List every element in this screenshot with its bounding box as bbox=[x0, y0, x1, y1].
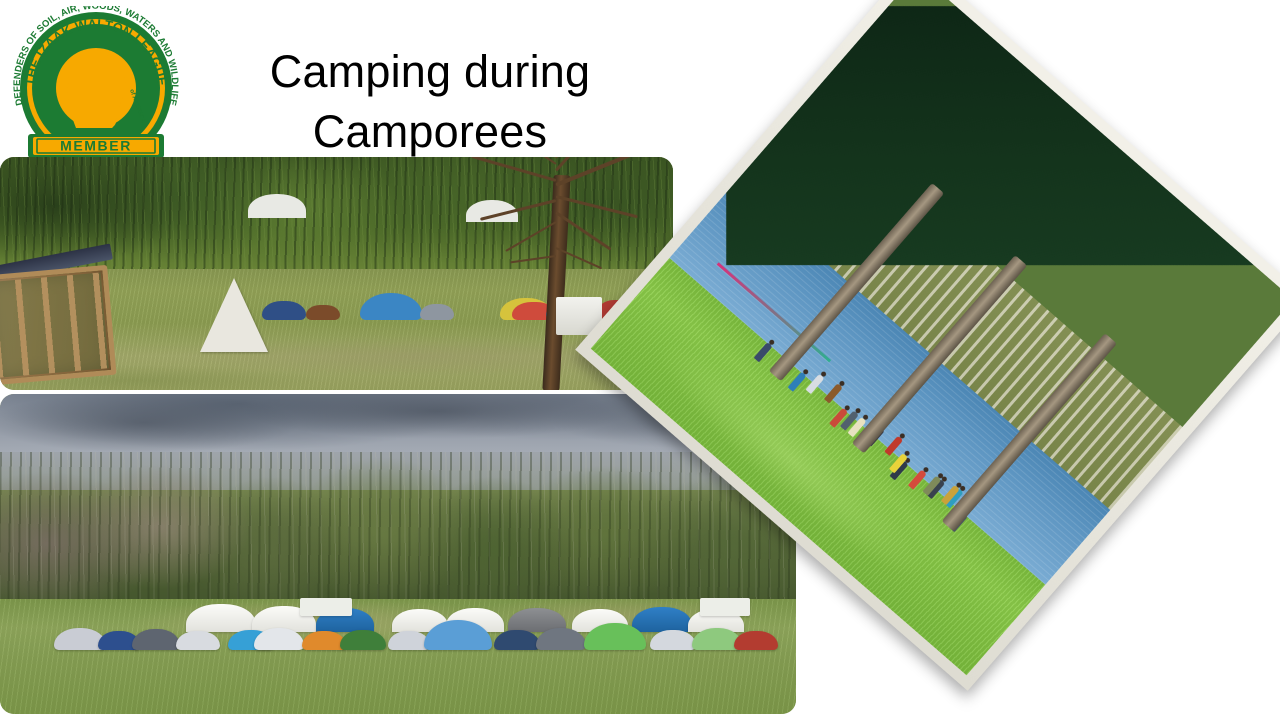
dome-tent bbox=[132, 629, 180, 650]
camper-figure bbox=[907, 469, 926, 489]
canopy-tent bbox=[248, 194, 306, 218]
camper-figure bbox=[788, 372, 807, 392]
dome-tent bbox=[420, 304, 454, 320]
canopy-tent bbox=[632, 607, 692, 632]
slide-title-line-1: Camping during bbox=[195, 42, 665, 102]
dome-tent bbox=[360, 293, 422, 320]
slide-title: Camping during Camporees bbox=[195, 42, 665, 162]
presentation-slide: DEFENDERS OF SOIL, AIR, WOODS, WATERS AN… bbox=[0, 0, 1280, 720]
dome-tent bbox=[494, 630, 540, 650]
slide-title-line-2: Camporees bbox=[195, 102, 665, 162]
canopy-tent bbox=[186, 604, 256, 632]
camper-figure bbox=[884, 436, 903, 456]
camporee-tent-village-meadow-photo bbox=[0, 394, 796, 714]
dome-tent bbox=[306, 305, 340, 320]
campsite-tents-under-bare-tree-photo bbox=[0, 157, 673, 390]
dome-tent bbox=[650, 630, 696, 650]
camper-figure bbox=[805, 374, 824, 394]
logo-banner-text: MEMBER bbox=[60, 138, 132, 154]
izaak-walton-league-member-logo: DEFENDERS OF SOIL, AIR, WOODS, WATERS AN… bbox=[6, 6, 186, 161]
wooden-shelter-structure bbox=[0, 254, 121, 390]
tent-village-row bbox=[0, 586, 796, 650]
dome-tent bbox=[734, 631, 778, 650]
camper-figure bbox=[754, 342, 773, 362]
canopy-tent bbox=[466, 200, 518, 222]
teepee-tent bbox=[200, 278, 268, 352]
dome-tent bbox=[262, 301, 306, 320]
utility-trailer bbox=[700, 598, 750, 616]
dome-tent bbox=[340, 630, 386, 650]
utility-trailer bbox=[300, 598, 352, 616]
dome-tent bbox=[176, 631, 220, 650]
shelter-frame bbox=[0, 264, 117, 385]
camper-figure bbox=[824, 383, 843, 403]
shadow-overlay bbox=[726, 7, 1280, 266]
